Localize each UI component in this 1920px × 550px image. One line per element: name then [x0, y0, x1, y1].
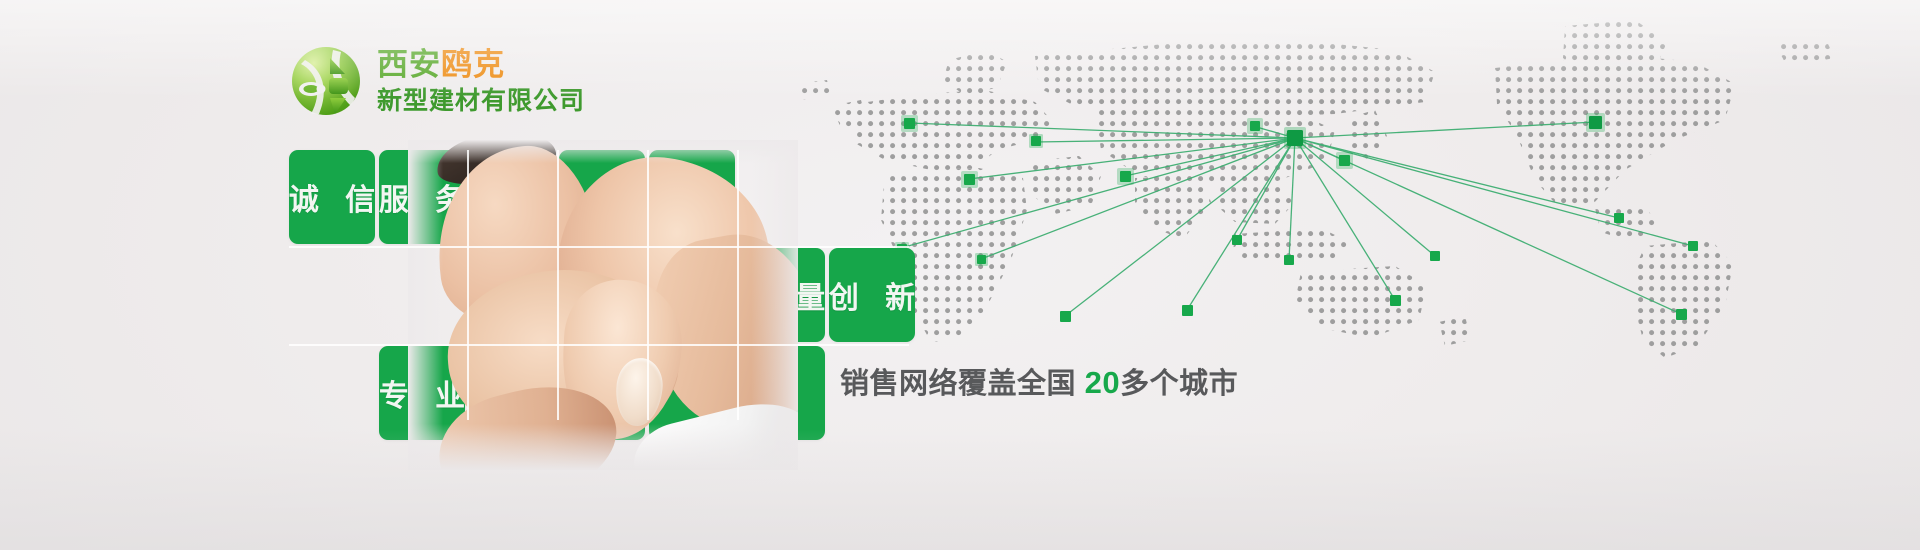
value-tile-zhuanye: 专 业 — [379, 346, 465, 440]
promo-banner: 诚 信 服 务 质 量 创 新 专 业 — [0, 0, 1920, 550]
value-tile-blank-r2c3 — [469, 248, 555, 342]
logo-text-block: 西安鸥克 新型建材有限公司 — [377, 49, 585, 114]
value-tile-label: 创 新 — [820, 273, 924, 317]
value-tile-label: 诚 信 — [280, 175, 384, 219]
value-tile-chuangxin: 创 新 — [829, 248, 915, 342]
value-tile-blank-r1c5 — [649, 150, 735, 244]
value-tile-blank-r1c3 — [469, 150, 555, 244]
logo-brand: 鸥克 — [441, 47, 505, 82]
logo-subtitle: 新型建材有限公司 — [377, 89, 585, 114]
tagline-prefix: 销售网络覆盖全国 — [840, 368, 1076, 400]
value-tile-label: 质 量 — [730, 273, 834, 317]
value-tile-chengxin: 诚 信 — [289, 150, 375, 244]
value-tile-zhiliang: 质 量 — [739, 248, 825, 342]
value-tile-blank-r3c5 — [649, 346, 735, 440]
tagline-suffix: 多个城市 — [1120, 368, 1238, 400]
logo-title: 西安鸥克 — [377, 49, 585, 80]
company-logo[interactable]: 西安鸥克 新型建材有限公司 — [289, 44, 585, 118]
value-tile-blank-r2c5 — [649, 248, 735, 342]
value-tile-blank-r3c6 — [739, 346, 825, 440]
tagline-number: 20 — [1085, 365, 1120, 400]
logo-city: 西安 — [377, 47, 441, 82]
value-tile-blank-r2c4 — [559, 248, 645, 342]
value-tile-blank-r3c3 — [469, 346, 555, 440]
value-tile-fuwu: 服 务 — [379, 150, 465, 244]
value-tile-grid: 诚 信 服 务 质 量 创 新 专 业 — [289, 150, 909, 420]
value-tile-label: 服 务 — [370, 175, 474, 219]
value-tile-blank-r1c4 — [559, 150, 645, 244]
value-tile-label: 专 业 — [370, 371, 474, 415]
green-globe-leaf-logo-icon — [289, 44, 363, 118]
sales-network-tagline: 销售网络覆盖全国 20多个城市 — [840, 360, 1238, 402]
value-tile-blank-r3c4 — [559, 346, 645, 440]
